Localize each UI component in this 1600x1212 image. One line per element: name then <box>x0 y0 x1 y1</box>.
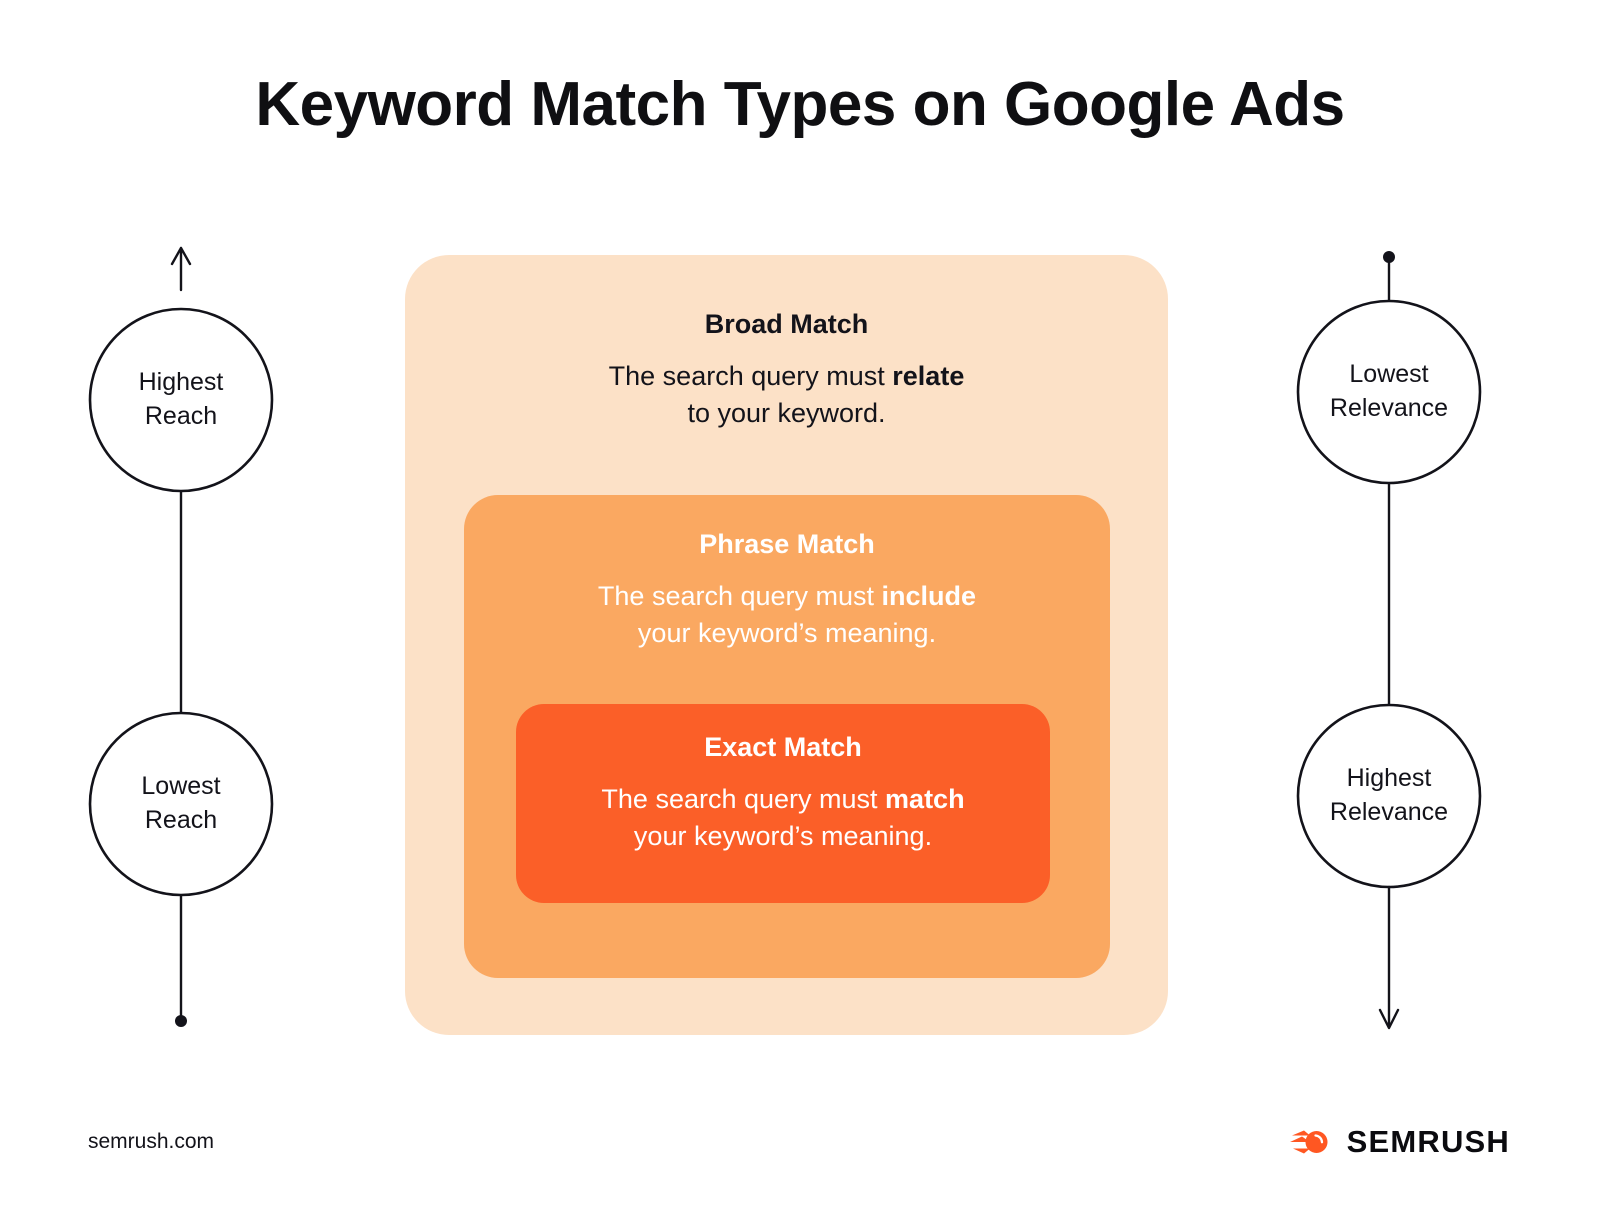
phrase-match-text: Phrase Match The search query must inclu… <box>464 495 1110 653</box>
phrase-match-heading: Phrase Match <box>464 529 1110 560</box>
broad-match-body-prefix: The search query must <box>609 361 893 391</box>
exact-match-body-line2: your keyword’s meaning. <box>516 818 1050 855</box>
lowest-reach-label-line1: Lowest <box>81 770 281 804</box>
footer-url: semrush.com <box>88 1130 214 1154</box>
exact-match-body-prefix: The search query must <box>601 784 885 814</box>
phrase-match-body-line1: The search query must include <box>464 578 1110 615</box>
exact-match-box: Exact Match The search query must match … <box>516 704 1050 903</box>
lowest-reach-label: Lowest Reach <box>81 770 281 837</box>
highest-relevance-label: Highest Relevance <box>1289 762 1489 829</box>
dot-icon <box>175 1015 187 1027</box>
phrase-match-body-emphasis: include <box>882 581 977 611</box>
lowest-relevance-label: Lowest Relevance <box>1289 358 1489 425</box>
phrase-match-box: Phrase Match The search query must inclu… <box>464 495 1110 978</box>
lowest-reach-label-line2: Reach <box>81 804 281 838</box>
lowest-relevance-label-line1: Lowest <box>1289 358 1489 392</box>
phrase-match-body: The search query must include your keywo… <box>464 578 1110 653</box>
reach-axis-graphic <box>71 240 291 1040</box>
broad-match-heading: Broad Match <box>405 309 1168 340</box>
exact-match-body-emphasis: match <box>885 784 965 814</box>
relevance-axis: Lowest Relevance Highest Relevance <box>1279 240 1499 1040</box>
phrase-match-body-prefix: The search query must <box>598 581 882 611</box>
semrush-comet-icon <box>1290 1126 1334 1158</box>
page-title: Keyword Match Types on Google Ads <box>0 72 1600 137</box>
highest-reach-label-line1: Highest <box>81 366 281 400</box>
highest-reach-label: Highest Reach <box>81 366 281 433</box>
highest-relevance-label-line2: Relevance <box>1289 796 1489 830</box>
broad-match-text: Broad Match The search query must relate… <box>405 255 1168 433</box>
highest-relevance-label-line1: Highest <box>1289 762 1489 796</box>
semrush-logo: SEMRUSH <box>1290 1124 1510 1160</box>
arrow-down-icon <box>1380 887 1398 1028</box>
exact-match-body: The search query must match your keyword… <box>516 781 1050 856</box>
highest-reach-label-line2: Reach <box>81 400 281 434</box>
arrow-up-icon <box>172 248 190 290</box>
broad-match-box: Broad Match The search query must relate… <box>405 255 1168 1035</box>
exact-match-body-line1: The search query must match <box>516 781 1050 818</box>
broad-match-body-line2: to your keyword. <box>405 395 1168 432</box>
semrush-wordmark: SEMRUSH <box>1347 1124 1510 1160</box>
broad-match-body-line1: The search query must relate <box>405 358 1168 395</box>
phrase-match-body-line2: your keyword’s meaning. <box>464 615 1110 652</box>
exact-match-text: Exact Match The search query must match … <box>516 704 1050 856</box>
reach-axis: Highest Reach Lowest Reach <box>71 240 291 1040</box>
broad-match-body-emphasis: relate <box>892 361 964 391</box>
lowest-relevance-label-line2: Relevance <box>1289 392 1489 426</box>
exact-match-heading: Exact Match <box>516 732 1050 763</box>
broad-match-body: The search query must relate to your key… <box>405 358 1168 433</box>
